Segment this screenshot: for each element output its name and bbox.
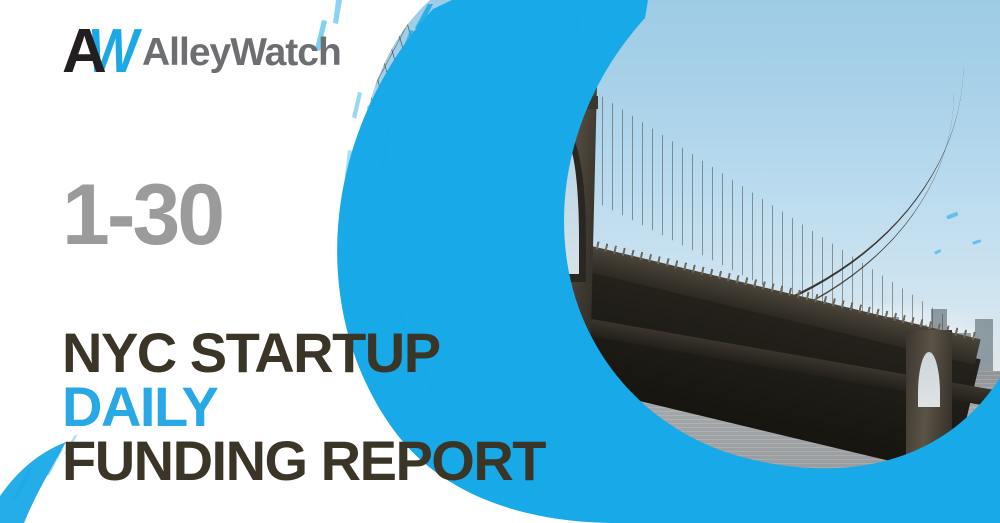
- american-flag-icon: [547, 17, 573, 31]
- monogram-letter-a: A: [62, 24, 104, 80]
- alleywatch-logo[interactable]: A W AlleyWatch: [62, 22, 341, 82]
- bridge-tower-cap: [468, 30, 600, 48]
- report-date: 1-30: [62, 172, 222, 258]
- aw-monogram-icon: A W: [62, 24, 136, 80]
- alleywatch-funding-report-banner: A W AlleyWatch 1-30 NYC STARTUP DAILY FU…: [0, 0, 1000, 523]
- logo-wordmark: AlleyWatch: [142, 33, 341, 72]
- headline-line-3: FUNDING REPORT: [62, 434, 545, 488]
- bridge-tower-cornice: [472, 96, 598, 109]
- page-title: NYC STARTUP DAILY FUNDING REPORT: [62, 326, 545, 487]
- headline-line-2: DAILY: [62, 380, 545, 434]
- headline-line-1: NYC STARTUP: [62, 326, 545, 380]
